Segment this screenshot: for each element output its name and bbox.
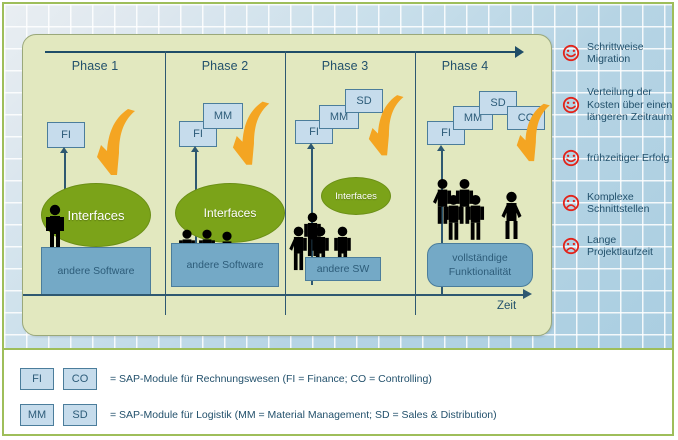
- bullet-item-5: Lange Projektlaufzeit: [562, 224, 672, 268]
- phase-divider-3: [415, 51, 416, 315]
- upward-curve-arrow-phase3: [367, 95, 409, 161]
- legend-row-2: MM SD = SAP-Module für Logistik (MM = Ma…: [20, 404, 497, 426]
- time-axis-arrowhead: [523, 289, 532, 299]
- legend-chip-sd: SD: [63, 404, 97, 426]
- software-box-phase2: andere Software: [171, 243, 279, 287]
- phase4-vertical-axis-arrowhead: [437, 145, 445, 151]
- legend-chip-co: CO: [63, 368, 97, 390]
- phase-label-2: Phase 2: [165, 59, 285, 73]
- diagram-root: Phase 1 Phase 2 Phase 3 Phase 4 FI Inter…: [0, 0, 678, 440]
- smiley-happy-icon: [562, 44, 580, 62]
- bullet-label-2: Verteilung der Kosten über einen längere…: [587, 86, 672, 124]
- phase3-vertical-axis-arrowhead: [307, 143, 315, 149]
- legend-row-1: FI CO = SAP-Module für Rechnungswesen (F…: [20, 368, 432, 390]
- bullet-label-1: Schrittweise Migration: [587, 41, 672, 66]
- benefits-drawbacks-list: Schrittweise Migration Verteilung der Ko…: [562, 38, 672, 272]
- phase-label-1: Phase 1: [35, 59, 155, 73]
- phase-progression-line: [45, 51, 517, 53]
- upward-curve-arrow-phase2: [231, 101, 275, 171]
- phase-label-4: Phase 4: [405, 59, 525, 73]
- module-box-fi-phase1: FI: [47, 122, 85, 148]
- software-box-phase1: andere Software: [41, 247, 151, 295]
- bullet-label-3: frühzeitiger Erfolg: [587, 152, 669, 165]
- smiley-happy-icon: [562, 149, 580, 167]
- software-box-phase1-label: andere Software: [57, 264, 134, 278]
- phase-progression-arrowhead: [515, 46, 524, 58]
- phase-divider-1: [165, 51, 166, 315]
- legend-chip-mm: MM: [20, 404, 54, 426]
- bullet-item-4: Komplexe Schnittstellen: [562, 186, 672, 220]
- upward-curve-arrow-phase4: [515, 103, 552, 167]
- bullet-item-3: frühzeitiger Erfolg: [562, 142, 672, 174]
- upward-curve-arrow-phase1: [95, 109, 141, 181]
- software-box-phase4: vollständige Funktionalität: [427, 243, 533, 287]
- bullet-label-5: Lange Projektlaufzeit: [587, 234, 672, 259]
- legend-text-2: = SAP-Module für Logistik (MM = Material…: [110, 409, 497, 421]
- phase-diagram-card: Phase 1 Phase 2 Phase 3 Phase 4 FI Inter…: [22, 34, 552, 336]
- legend-chip-fi: FI: [20, 368, 54, 390]
- person-icon-phase4-5: [501, 190, 522, 240]
- bullet-label-4: Komplexe Schnittstellen: [587, 191, 672, 216]
- person-icon-phase4-3: [444, 193, 463, 241]
- smiley-happy-icon: [562, 96, 580, 114]
- software-box-phase3-label: andere SW: [317, 262, 370, 276]
- time-axis-line: [23, 294, 525, 296]
- phase-divider-2: [285, 51, 286, 315]
- legend-panel: FI CO = SAP-Module für Rechnungswesen (F…: [4, 352, 672, 434]
- phase1-vertical-axis-arrowhead: [60, 147, 68, 153]
- person-icon-phase1-1: [45, 203, 65, 253]
- phase2-vertical-axis-arrowhead: [191, 146, 199, 152]
- bullet-item-1: Schrittweise Migration: [562, 38, 672, 68]
- smiley-sad-icon: [562, 237, 580, 255]
- legend-text-1: = SAP-Module für Rechnungswesen (FI = Fi…: [110, 373, 432, 385]
- interfaces-ellipse-phase3: Interfaces: [321, 177, 391, 215]
- software-box-phase3: andere SW: [305, 257, 381, 281]
- bullet-item-2: Verteilung der Kosten über einen längere…: [562, 72, 672, 138]
- person-icon-phase4-4: [466, 193, 485, 241]
- grid-background-panel: Phase 1 Phase 2 Phase 3 Phase 4 FI Inter…: [4, 4, 672, 350]
- software-box-phase2-label: andere Software: [186, 258, 263, 272]
- smiley-sad-icon: [562, 194, 580, 212]
- software-box-phase4-label: vollständige Funktionalität: [428, 251, 532, 279]
- time-axis-label: Zeit: [497, 300, 516, 312]
- phase-label-3: Phase 3: [285, 59, 405, 73]
